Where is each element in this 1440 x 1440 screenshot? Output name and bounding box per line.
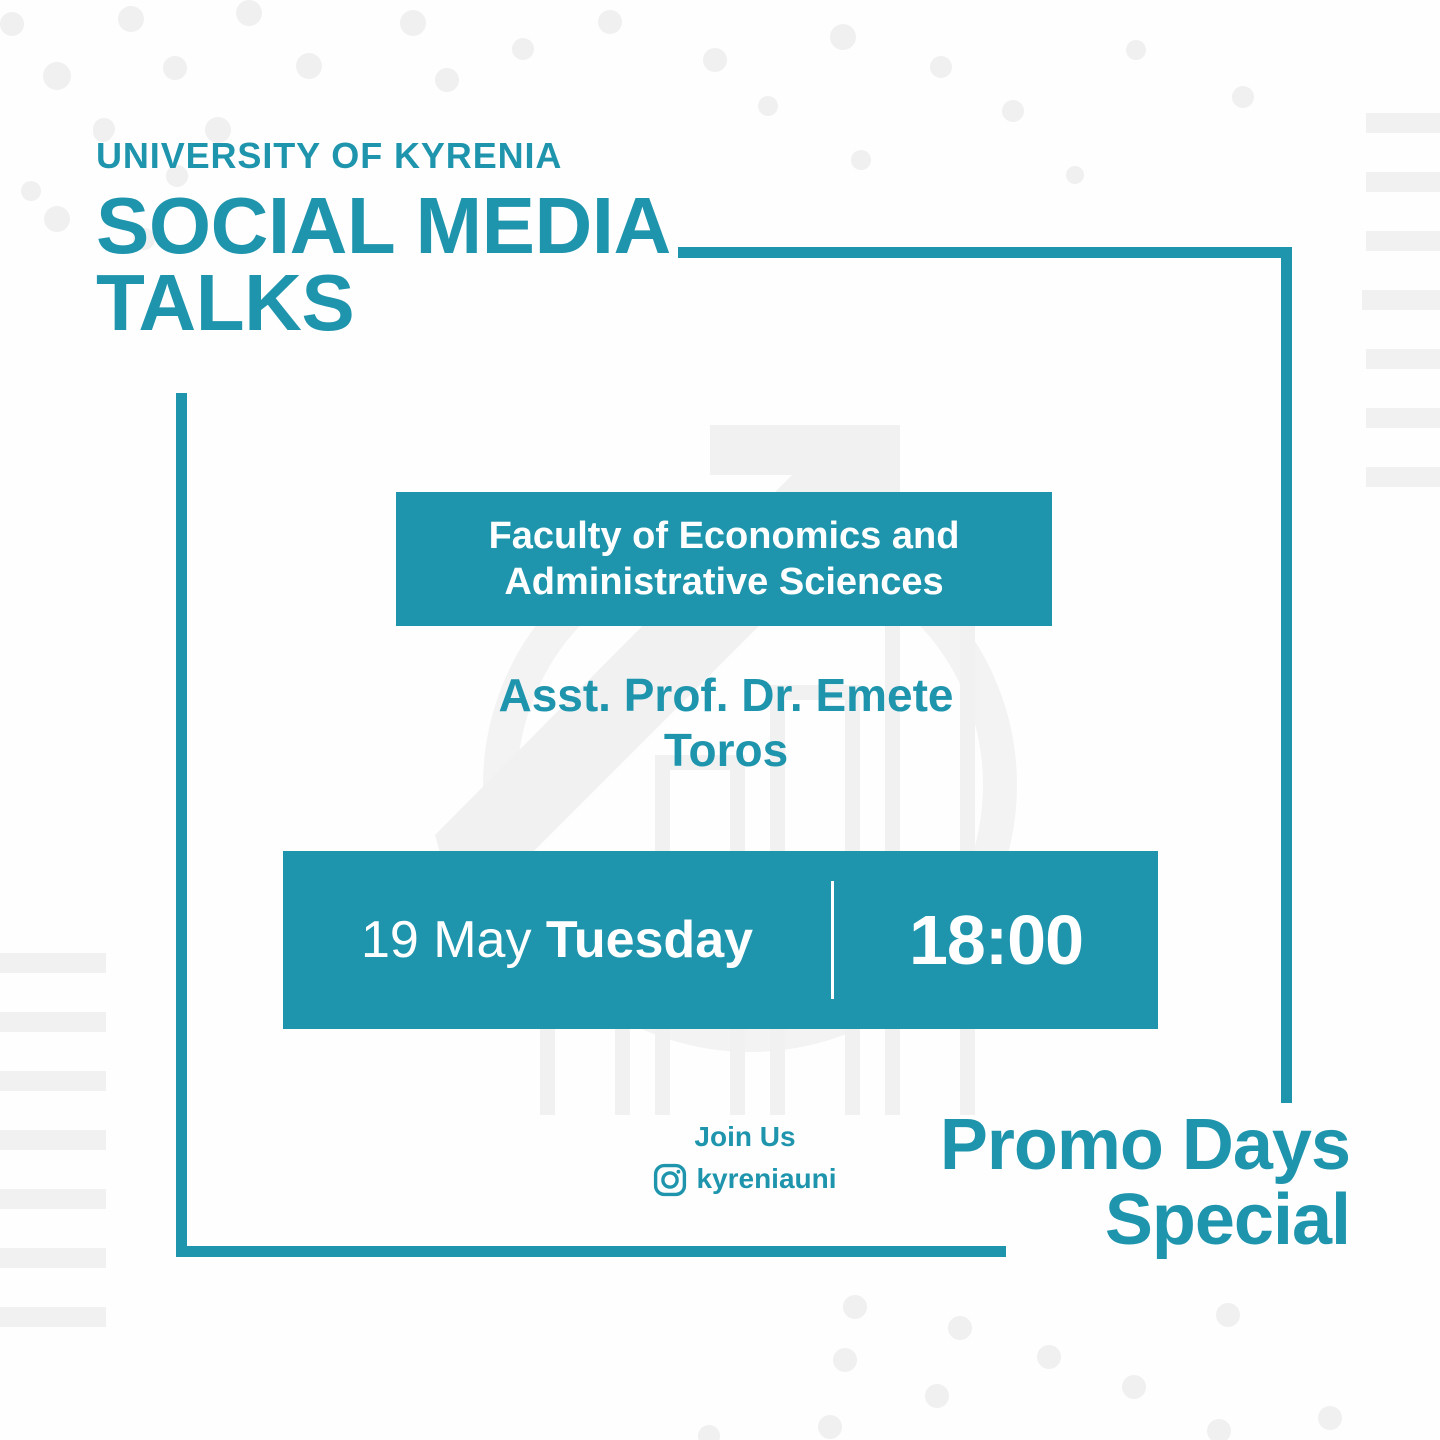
event-date-weekday: Tuesday (546, 911, 753, 969)
decorative-stripe (0, 1130, 106, 1150)
decorative-dot (1122, 1375, 1146, 1399)
decorative-dot (1207, 1419, 1231, 1440)
decorative-dot (925, 1384, 949, 1408)
decorative-dot (1002, 100, 1024, 122)
event-date: 19 May Tuesday (283, 914, 831, 966)
instagram-icon[interactable] (653, 1163, 687, 1197)
headline-block: UNIVERSITY OF KYRENIA SOCIAL MEDIA TALKS (96, 138, 796, 342)
decorative-dot (851, 150, 871, 170)
decorative-dot (400, 10, 426, 36)
decorative-stripe (0, 1248, 106, 1268)
decorative-stripe (1362, 290, 1440, 310)
decorative-dot (1037, 1345, 1061, 1369)
decorative-dot (435, 68, 459, 92)
decorative-dot (21, 181, 41, 201)
decorative-stripe (1366, 172, 1440, 192)
decorative-dot (930, 56, 952, 78)
datetime-banner: 19 May Tuesday 18:00 (283, 851, 1158, 1029)
decorative-stripe (1366, 231, 1440, 251)
decorative-dot (843, 1295, 867, 1319)
frame-line-left (176, 393, 187, 1257)
decorative-stripe (0, 953, 106, 973)
speaker-name: Asst. Prof. Dr. Emete Toros (376, 668, 1076, 778)
decorative-dot (818, 1415, 842, 1439)
decorative-dot (758, 96, 778, 116)
decorative-dot (1126, 40, 1146, 60)
decorative-dot (698, 1425, 720, 1440)
decorative-dot (1318, 1406, 1342, 1430)
decorative-dot (830, 24, 856, 50)
decorative-stripe (1366, 113, 1440, 133)
decorative-dot (0, 12, 24, 36)
decorative-stripe (0, 1189, 106, 1209)
decorative-dot (236, 0, 262, 26)
decorative-dot (1232, 86, 1254, 108)
decorative-stripe (0, 1071, 106, 1091)
decorative-stripe (0, 1307, 106, 1327)
faculty-name: Faculty of Economics and Administrative … (489, 513, 960, 606)
decorative-dot (598, 10, 622, 34)
decorative-dot (43, 62, 71, 90)
poster-canvas: UNIVERSITY OF KYRENIA SOCIAL MEDIA TALKS… (0, 0, 1440, 1440)
decorative-dot (512, 38, 534, 60)
decorative-dot (833, 1348, 857, 1372)
decorative-dot (1066, 166, 1084, 184)
decorative-stripe (0, 1012, 106, 1032)
decorative-dot (703, 48, 727, 72)
decorative-dot (1216, 1303, 1240, 1327)
decorative-stripe (1366, 408, 1440, 428)
decorative-dot (296, 53, 322, 79)
frame-line-right (1281, 247, 1292, 1103)
page-title: SOCIAL MEDIA TALKS (96, 188, 796, 342)
decorative-stripe (1366, 467, 1440, 487)
decorative-dot (948, 1316, 972, 1340)
event-time: 18:00 (834, 905, 1158, 975)
promo-days-special: Promo Days Special (700, 1108, 1350, 1258)
decorative-stripe (1366, 349, 1440, 369)
decorative-dot (163, 56, 187, 80)
event-date-daymonth: 19 May (361, 911, 546, 969)
decorative-dot (44, 206, 70, 232)
faculty-banner: Faculty of Economics and Administrative … (396, 492, 1052, 626)
decorative-dot (118, 6, 144, 32)
university-kicker: UNIVERSITY OF KYRENIA (96, 138, 796, 174)
